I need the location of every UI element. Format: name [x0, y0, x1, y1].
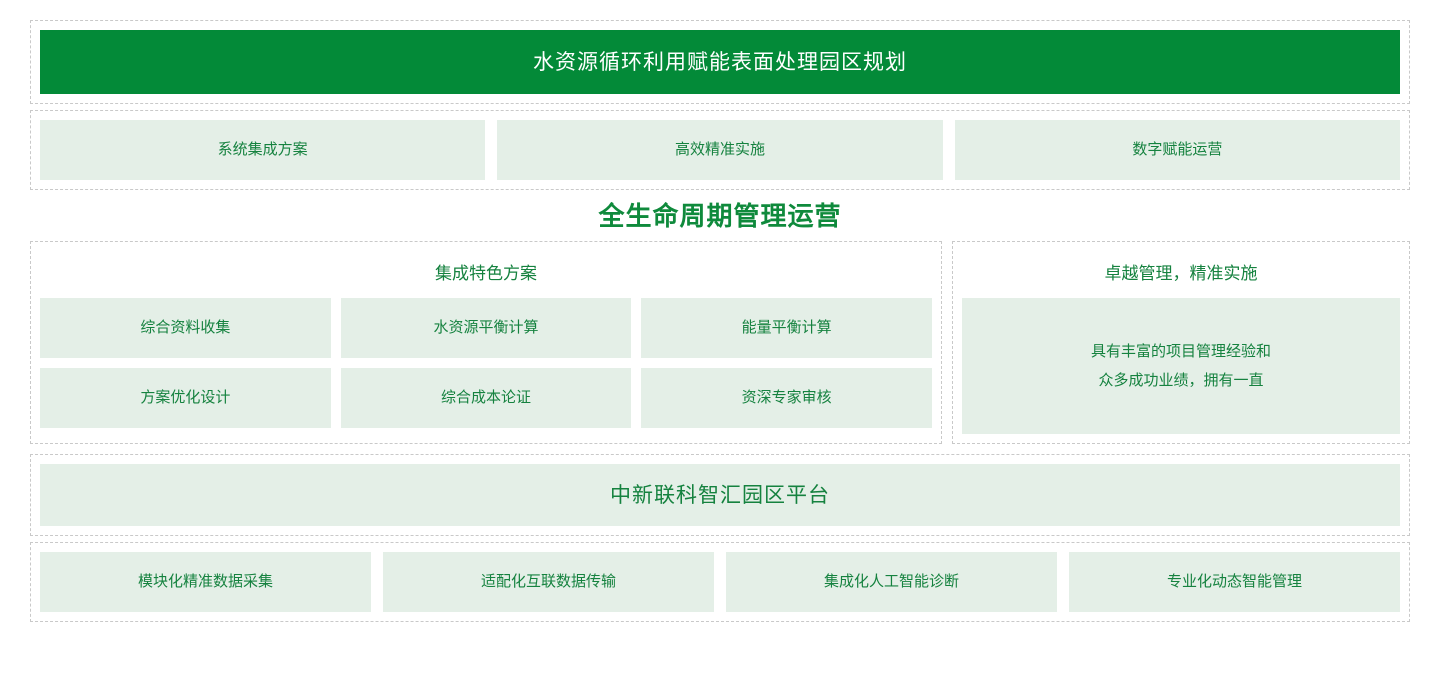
integrated-solutions-panel: 集成特色方案 综合资料收集 水资源平衡计算 能量平衡计算 方案优化设计	[30, 241, 942, 444]
capability-label: 模块化精准数据采集	[138, 571, 273, 594]
capability-tile[interactable]: 集成化人工智能诊断	[726, 552, 1057, 612]
management-title: 卓越管理，精准实施	[962, 251, 1400, 298]
capability-tile[interactable]: 适配化互联数据传输	[383, 552, 714, 612]
solution-tile[interactable]: 资深专家审核	[641, 368, 932, 428]
integrated-solutions-row: 方案优化设计 综合成本论证 资深专家审核	[40, 368, 932, 428]
capability-label: 集成化人工智能诊断	[824, 571, 959, 594]
pillar-label: 数字赋能运营	[1132, 139, 1222, 162]
solution-label: 水资源平衡计算	[434, 317, 539, 340]
page-root: 水资源循环利用赋能表面处理园区规划 系统集成方案 高效精准实施 数字赋能运营 全…	[0, 20, 1440, 694]
page-title: 水资源循环利用赋能表面处理园区规划	[533, 52, 907, 73]
solution-tile[interactable]: 能量平衡计算	[641, 298, 932, 358]
solution-label: 综合资料收集	[140, 317, 230, 340]
pillar-tile[interactable]: 高效精准实施	[497, 120, 942, 180]
capability-label: 专业化动态智能管理	[1167, 571, 1302, 594]
banner-section: 水资源循环利用赋能表面处理园区规划	[30, 20, 1410, 104]
integrated-solutions-row: 综合资料收集 水资源平衡计算 能量平衡计算	[40, 298, 932, 358]
solution-tile[interactable]: 综合成本论证	[341, 368, 632, 428]
management-note-text: 具有丰富的项目管理经验和 众多成功业绩，拥有一直	[1091, 337, 1271, 396]
integrated-solutions-title: 集成特色方案	[40, 251, 932, 298]
solution-tile[interactable]: 水资源平衡计算	[341, 298, 632, 358]
solution-label: 综合成本论证	[441, 387, 531, 410]
pillars-section: 系统集成方案 高效精准实施 数字赋能运营	[30, 110, 1410, 190]
platform-section: 中新联科智汇园区平台	[30, 454, 1410, 536]
pillar-label: 系统集成方案	[218, 139, 308, 162]
pillar-label: 高效精准实施	[675, 139, 765, 162]
platform-title: 中新联科智汇园区平台	[610, 485, 830, 506]
management-note-line-1: 具有丰富的项目管理经验和	[1091, 337, 1271, 366]
capabilities-section: 模块化精准数据采集 适配化互联数据传输 集成化人工智能诊断 专业化动态智能管理	[30, 542, 1410, 622]
management-note-line-2: 众多成功业绩，拥有一直	[1091, 366, 1271, 395]
solution-tile[interactable]: 方案优化设计	[40, 368, 331, 428]
platform-bar[interactable]: 中新联科智汇园区平台	[40, 464, 1400, 526]
pillar-tile[interactable]: 数字赋能运营	[955, 120, 1400, 180]
lifecycle-columns: 集成特色方案 综合资料收集 水资源平衡计算 能量平衡计算 方案优化设计	[30, 241, 1410, 444]
section-heading-wrap: 全生命周期管理运营	[30, 190, 1410, 241]
integrated-solutions-grid: 综合资料收集 水资源平衡计算 能量平衡计算 方案优化设计 综合成本论证	[40, 298, 932, 428]
capability-tile[interactable]: 专业化动态智能管理	[1069, 552, 1400, 612]
solution-tile[interactable]: 综合资料收集	[40, 298, 331, 358]
pillars-list: 系统集成方案 高效精准实施 数字赋能运营	[40, 120, 1400, 180]
section-heading: 全生命周期管理运营	[30, 201, 1410, 232]
management-note: 具有丰富的项目管理经验和 众多成功业绩，拥有一直	[962, 298, 1400, 434]
banner: 水资源循环利用赋能表面处理园区规划	[40, 30, 1400, 94]
management-panel: 卓越管理，精准实施 具有丰富的项目管理经验和 众多成功业绩，拥有一直	[952, 241, 1410, 444]
pillar-tile[interactable]: 系统集成方案	[40, 120, 485, 180]
solution-label: 资深专家审核	[742, 387, 832, 410]
capability-label: 适配化互联数据传输	[481, 571, 616, 594]
capability-tile[interactable]: 模块化精准数据采集	[40, 552, 371, 612]
solution-label: 方案优化设计	[140, 387, 230, 410]
capabilities-list: 模块化精准数据采集 适配化互联数据传输 集成化人工智能诊断 专业化动态智能管理	[40, 552, 1400, 612]
solution-label: 能量平衡计算	[742, 317, 832, 340]
